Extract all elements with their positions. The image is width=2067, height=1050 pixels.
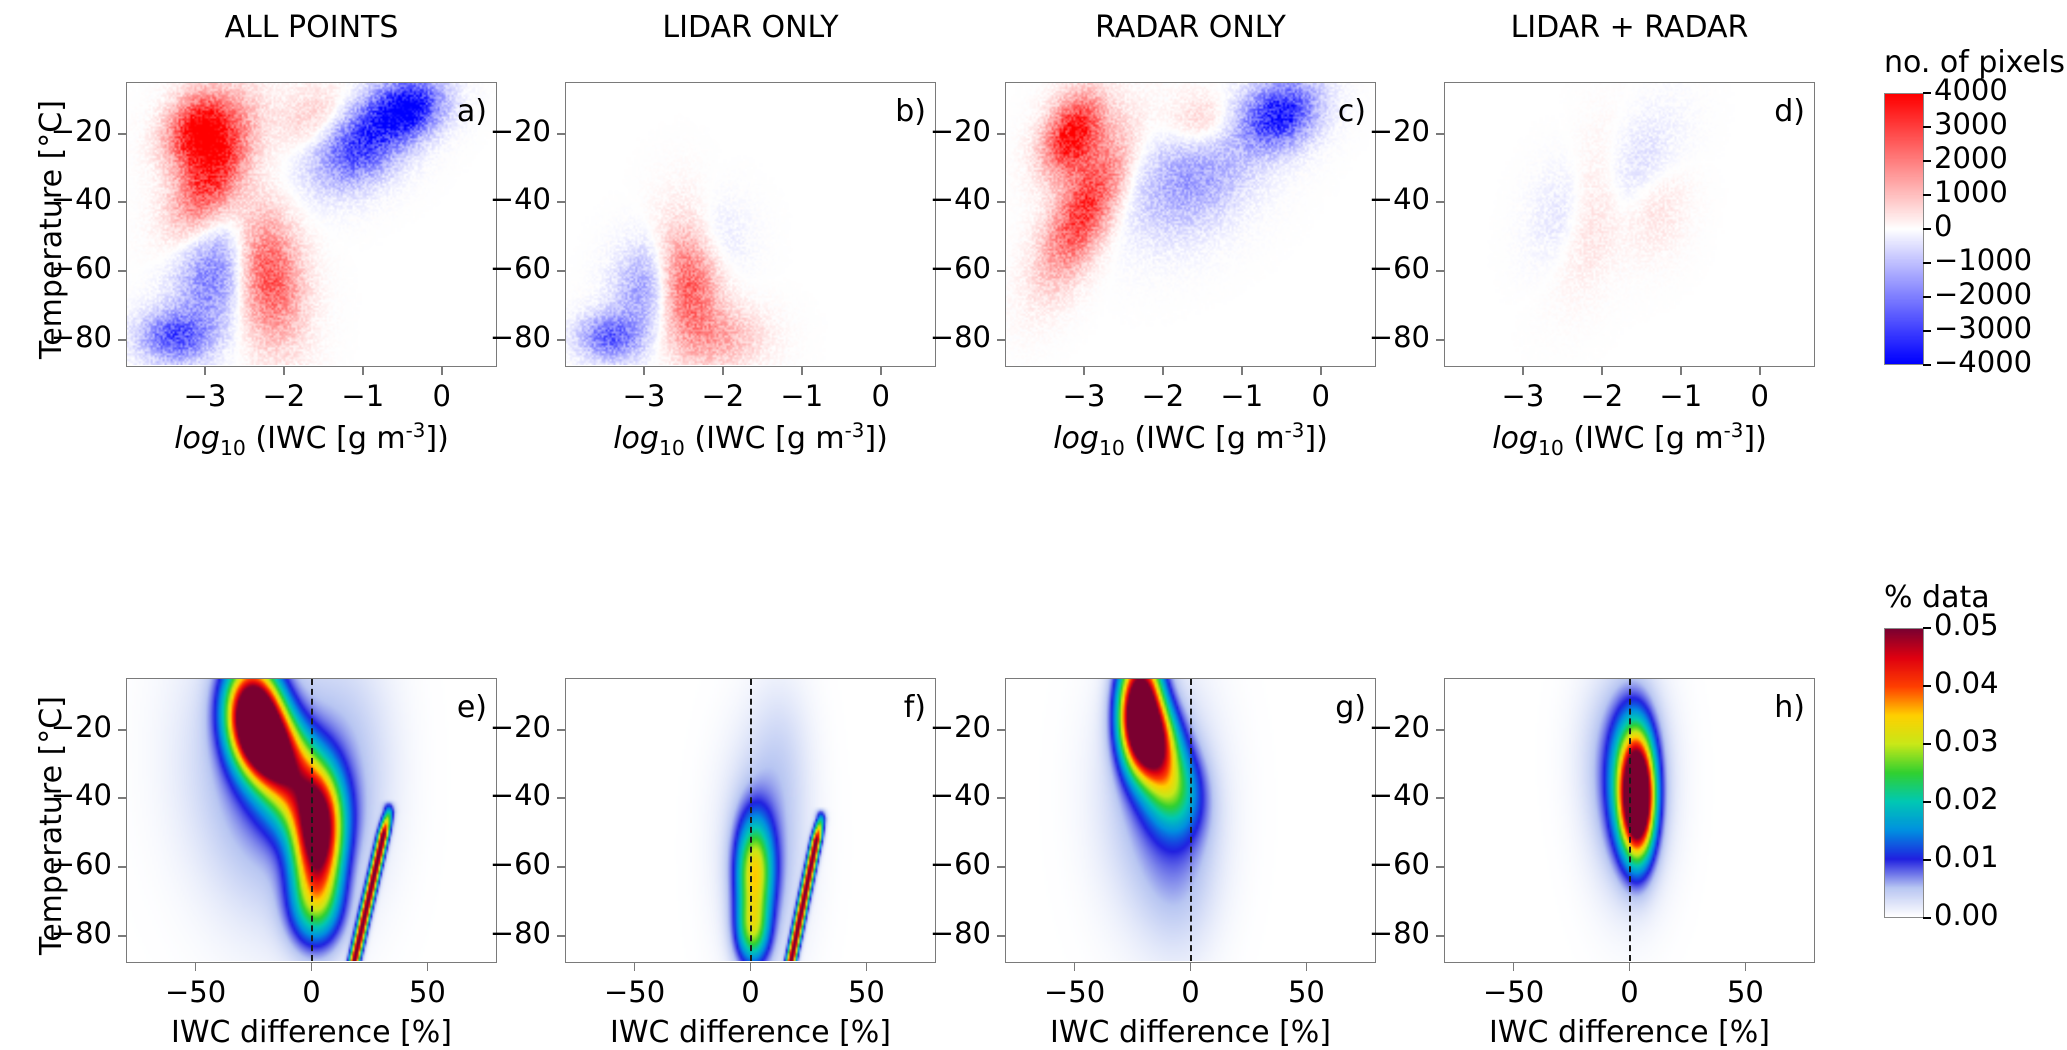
y-tick-label: −20 <box>455 710 551 744</box>
y-tick-label: −80 <box>1334 916 1430 950</box>
x-tickmark <box>1522 367 1524 375</box>
x-tickmark <box>1601 367 1603 375</box>
y-tick-label: −60 <box>895 847 991 881</box>
y-tickmark <box>1436 729 1444 731</box>
panel-letter-d: d) <box>1753 94 1805 129</box>
y-tickmark <box>557 201 565 203</box>
x-tickmark <box>283 367 285 375</box>
colorbar-tick-label: 0.03 <box>1934 724 1999 758</box>
x-tickmark <box>634 963 636 971</box>
x-tick-label: 50 <box>367 975 487 1009</box>
colorbar-tick-label: −4000 <box>1934 345 2032 379</box>
x-tick-label: 0 <box>821 379 941 413</box>
x-tick-label: 0 <box>382 379 502 413</box>
y-axis-label: Temperature [°C] <box>34 100 69 359</box>
x-tickmark <box>1745 963 1747 971</box>
x-tickmark <box>1241 367 1243 375</box>
y-tick-label: −60 <box>1334 847 1430 881</box>
colorbar-pct-data <box>1884 628 1924 918</box>
y-tick-label: −20 <box>895 114 991 148</box>
colorbar-tickmark <box>1923 364 1931 366</box>
y-tickmark <box>997 270 1005 272</box>
y-tickmark <box>997 866 1005 868</box>
y-tick-label: −20 <box>455 114 551 148</box>
y-tickmark <box>997 935 1005 937</box>
y-tick-label: −40 <box>1334 182 1430 216</box>
x-tickmark <box>204 367 206 375</box>
x-tick-label: 0 <box>1131 975 1251 1009</box>
x-tickmark <box>880 367 882 375</box>
colorbar-tick-label: 0.04 <box>1934 666 1999 700</box>
x-tick-label: 50 <box>1246 975 1366 1009</box>
y-tick-label: −20 <box>1334 114 1430 148</box>
x-tickmark <box>1306 963 1308 971</box>
y-tickmark <box>118 339 126 341</box>
colorbar-tick-label: 0 <box>1934 209 1952 243</box>
panel-letter-h: h) <box>1753 690 1805 725</box>
x-tickmark <box>866 963 868 971</box>
x-tick-label: −50 <box>575 975 695 1009</box>
colorbar-tickmark <box>1923 160 1931 162</box>
y-tickmark <box>997 797 1005 799</box>
x-tick-label: 0 <box>1261 379 1381 413</box>
column-title-all-points: ALL POINTS <box>126 10 497 45</box>
x-axis-label-top: log10 (IWC [g m-3]) <box>126 419 497 460</box>
y-tickmark <box>1436 201 1444 203</box>
y-tick-label: −80 <box>1334 320 1430 354</box>
x-tickmark <box>1320 367 1322 375</box>
x-tick-label: 50 <box>806 975 926 1009</box>
x-tick-label: 50 <box>1685 975 1805 1009</box>
y-tick-label: −40 <box>895 182 991 216</box>
colorbar-tickmark <box>1923 92 1931 94</box>
y-tickmark <box>997 201 1005 203</box>
y-tickmark <box>557 270 565 272</box>
colorbar-tick-label: 2000 <box>1934 141 2008 175</box>
colorbar-tick-label: 0.05 <box>1934 608 1999 642</box>
x-tickmark <box>1083 367 1085 375</box>
y-tickmark <box>118 729 126 731</box>
figure-root: ALL POINTSLIDAR ONLYRADAR ONLYLIDAR + RA… <box>0 0 2067 1050</box>
y-tick-label: −60 <box>455 847 551 881</box>
x-axis-label-top: log10 (IWC [g m-3]) <box>1005 419 1376 460</box>
colorbar-tickmark <box>1923 194 1931 196</box>
colorbar-gradient <box>1885 94 1923 364</box>
colorbar-tickmark <box>1923 330 1931 332</box>
y-tickmark <box>557 339 565 341</box>
y-tickmark <box>1436 866 1444 868</box>
x-tickmark <box>750 963 752 971</box>
y-tickmark <box>557 935 565 937</box>
x-tick-label: 0 <box>1570 975 1690 1009</box>
y-tickmark <box>118 797 126 799</box>
zero-reference-line <box>750 679 752 961</box>
y-tick-label: −80 <box>455 320 551 354</box>
y-tick-label: −80 <box>895 320 991 354</box>
y-tickmark <box>557 866 565 868</box>
x-tick-label: 0 <box>691 975 811 1009</box>
zero-reference-line <box>1190 679 1192 961</box>
colorbar-tick-label: 1000 <box>1934 175 2008 209</box>
y-tickmark <box>557 797 565 799</box>
y-axis-label: Temperature [°C] <box>34 696 69 955</box>
colorbar-tickmark <box>1923 859 1931 861</box>
x-tickmark <box>1162 367 1164 375</box>
x-tickmark <box>195 963 197 971</box>
x-tickmark <box>722 367 724 375</box>
zero-reference-line <box>1629 679 1631 961</box>
x-tickmark <box>1629 963 1631 971</box>
y-tickmark <box>118 935 126 937</box>
colorbar-tick-label: 4000 <box>1934 73 2008 107</box>
colorbar-tickmark <box>1923 262 1931 264</box>
x-tickmark <box>1074 963 1076 971</box>
colorbar-tickmark <box>1923 228 1931 230</box>
colorbar-tickmark <box>1923 627 1931 629</box>
x-tick-label: 0 <box>1700 379 1820 413</box>
column-title-radar-only: RADAR ONLY <box>1005 10 1376 45</box>
y-tickmark <box>1436 797 1444 799</box>
y-tick-label: −60 <box>455 251 551 285</box>
column-title-lidar-radar: LIDAR + RADAR <box>1444 10 1815 45</box>
x-tickmark <box>441 367 443 375</box>
colorbar-tickmark <box>1923 743 1931 745</box>
y-tickmark <box>997 729 1005 731</box>
colorbar-tick-label: 3000 <box>1934 107 2008 141</box>
y-tickmark <box>1436 133 1444 135</box>
y-tick-label: −20 <box>1334 710 1430 744</box>
colorbar-tick-label: −1000 <box>1934 243 2032 277</box>
y-tick-label: −20 <box>895 710 991 744</box>
x-tickmark <box>643 367 645 375</box>
column-title-lidar-only: LIDAR ONLY <box>565 10 936 45</box>
x-tickmark <box>362 367 364 375</box>
colorbar-tick-label: 0.01 <box>1934 840 1999 874</box>
x-tickmark <box>1680 367 1682 375</box>
colorbar-tick-label: −2000 <box>1934 277 2032 311</box>
y-tickmark <box>1436 270 1444 272</box>
x-tickmark <box>801 367 803 375</box>
x-axis-label-top: log10 (IWC [g m-3]) <box>1444 419 1815 460</box>
x-tick-label: 0 <box>252 975 372 1009</box>
y-tickmark <box>118 866 126 868</box>
y-tickmark <box>1436 339 1444 341</box>
x-axis-label-bottom: IWC difference [%] <box>1444 1015 1815 1050</box>
y-tick-label: −40 <box>1334 778 1430 812</box>
colorbar-tick-label: 0.02 <box>1934 782 1999 816</box>
y-tickmark <box>118 201 126 203</box>
y-tickmark <box>997 339 1005 341</box>
x-axis-label-top: log10 (IWC [g m-3]) <box>565 419 936 460</box>
x-axis-label-bottom: IWC difference [%] <box>565 1015 936 1050</box>
x-tick-label: −50 <box>1015 975 1135 1009</box>
x-tickmark <box>311 963 313 971</box>
zero-reference-line <box>311 679 313 961</box>
x-tickmark <box>1190 963 1192 971</box>
colorbar-tick-label: −3000 <box>1934 311 2032 345</box>
colorbar-no-of-pixels <box>1884 93 1924 365</box>
colorbar-tickmark <box>1923 801 1931 803</box>
y-tickmark <box>557 133 565 135</box>
x-tickmark <box>1759 367 1761 375</box>
y-tickmark <box>118 133 126 135</box>
y-tick-label: −60 <box>1334 251 1430 285</box>
colorbar-tickmark <box>1923 126 1931 128</box>
y-tick-label: −40 <box>895 778 991 812</box>
x-tick-label: −50 <box>136 975 256 1009</box>
y-tickmark <box>997 133 1005 135</box>
y-tickmark <box>557 729 565 731</box>
y-tickmark <box>118 270 126 272</box>
colorbar-gradient <box>1885 629 1923 917</box>
y-tick-label: −80 <box>455 916 551 950</box>
colorbar-tick-label: 0.00 <box>1934 898 1999 932</box>
x-axis-label-bottom: IWC difference [%] <box>1005 1015 1376 1050</box>
x-tick-label: −50 <box>1454 975 1574 1009</box>
y-tick-label: −40 <box>455 182 551 216</box>
y-tick-label: −60 <box>895 251 991 285</box>
y-tick-label: −80 <box>895 916 991 950</box>
x-axis-label-bottom: IWC difference [%] <box>126 1015 497 1050</box>
x-tickmark <box>427 963 429 971</box>
colorbar-tickmark <box>1923 296 1931 298</box>
x-tickmark <box>1513 963 1515 971</box>
y-tick-label: −40 <box>455 778 551 812</box>
colorbar-tickmark <box>1923 685 1931 687</box>
y-tickmark <box>1436 935 1444 937</box>
colorbar-tickmark <box>1923 917 1931 919</box>
